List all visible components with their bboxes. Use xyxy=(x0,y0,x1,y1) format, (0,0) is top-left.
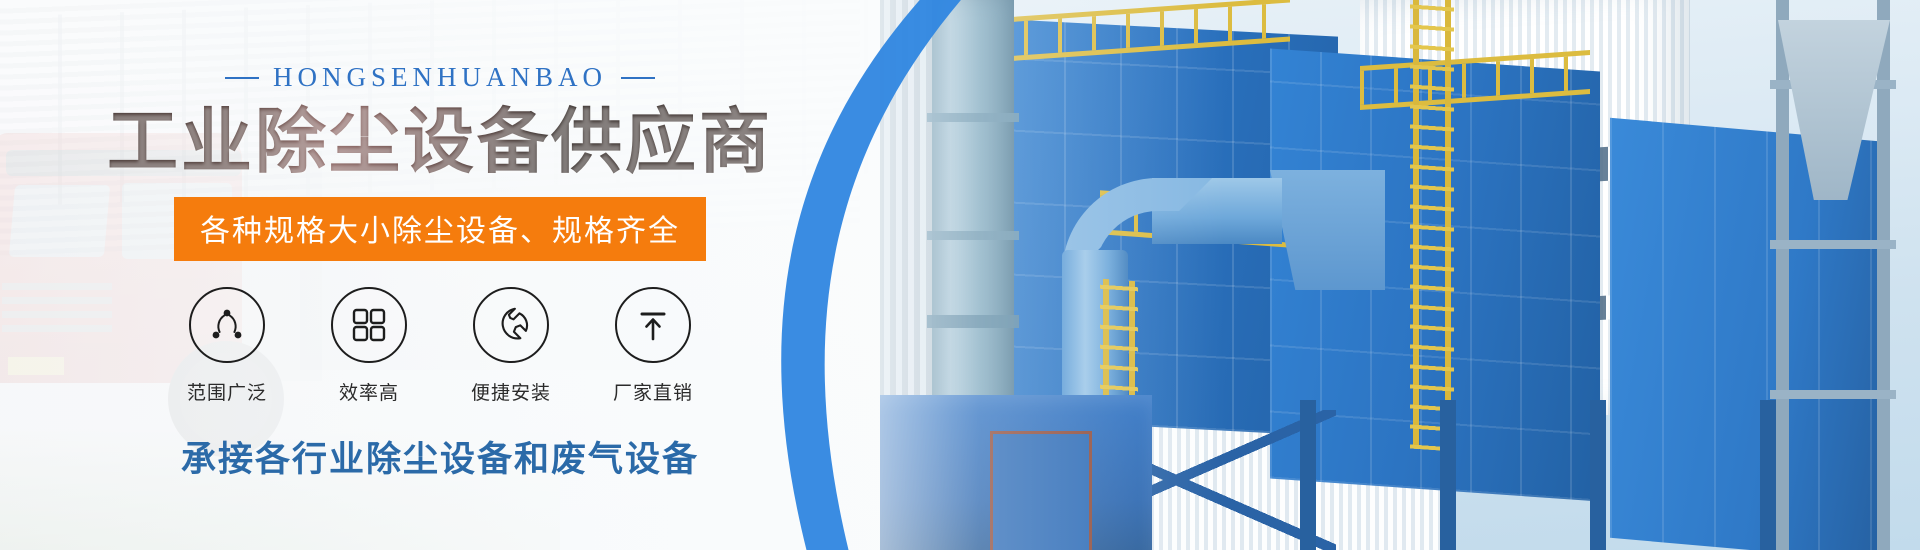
tower-brace xyxy=(1770,390,1896,399)
feature-icon-circle xyxy=(473,287,549,363)
chimney-ring xyxy=(927,231,1019,240)
feature-label: 便捷安装 xyxy=(471,378,551,405)
industrial-equipment-photo xyxy=(800,0,1920,550)
feature-icon-circle xyxy=(615,287,691,363)
support-leg xyxy=(1590,400,1606,550)
brand-eyebrow: HONGSENHUANBAO xyxy=(225,62,655,93)
banner-tagline: 承接各行业除尘设备和废气设备 xyxy=(181,431,699,482)
chimney-ring xyxy=(927,113,1019,122)
subtitle-highlight-bar: 各种规格大小除尘设备、规格齐全 xyxy=(174,197,706,261)
feature-item-factory-direct[interactable]: 厂家直销 xyxy=(600,287,706,405)
page-title: 工业除尘设备供应商 xyxy=(107,103,773,183)
banner-content: HONGSENHUANBAO 工业除尘设备供应商 各种规格大小除尘设备、规格齐全… xyxy=(0,0,880,550)
tower-brace xyxy=(1770,240,1896,249)
ladder-cage-main xyxy=(1410,0,1454,452)
feature-item-efficiency[interactable]: 效率高 xyxy=(316,287,422,405)
feature-label: 效率高 xyxy=(339,378,399,405)
chimney-ring xyxy=(927,315,1019,328)
arrow-up-bar-icon xyxy=(634,306,672,344)
support-leg xyxy=(1300,400,1316,550)
dash-right-icon xyxy=(621,77,655,79)
feature-list: 范围广泛 效率高 xyxy=(174,287,706,405)
wrench-icon xyxy=(491,305,531,345)
grid-squares-icon xyxy=(350,306,388,344)
ladder-rungs xyxy=(1410,0,1454,452)
hero-banner: HONGSENHUANBAO 工业除尘设备供应商 各种规格大小除尘设备、规格齐全… xyxy=(0,0,1920,550)
access-door xyxy=(990,431,1092,550)
feature-label: 厂家直销 xyxy=(613,378,693,405)
feature-icon-circle xyxy=(331,287,407,363)
feature-item-scope[interactable]: 范围广泛 xyxy=(174,287,280,405)
brand-pinyin: HONGSENHUANBAO xyxy=(273,62,607,93)
support-leg xyxy=(1440,400,1456,550)
feature-item-installation[interactable]: 便捷安装 xyxy=(458,287,564,405)
dash-left-icon xyxy=(225,77,259,79)
network-nodes-icon xyxy=(207,305,247,345)
exhaust-chimney xyxy=(932,0,1014,425)
feature-icon-circle xyxy=(189,287,265,363)
feature-label: 范围广泛 xyxy=(187,378,267,405)
